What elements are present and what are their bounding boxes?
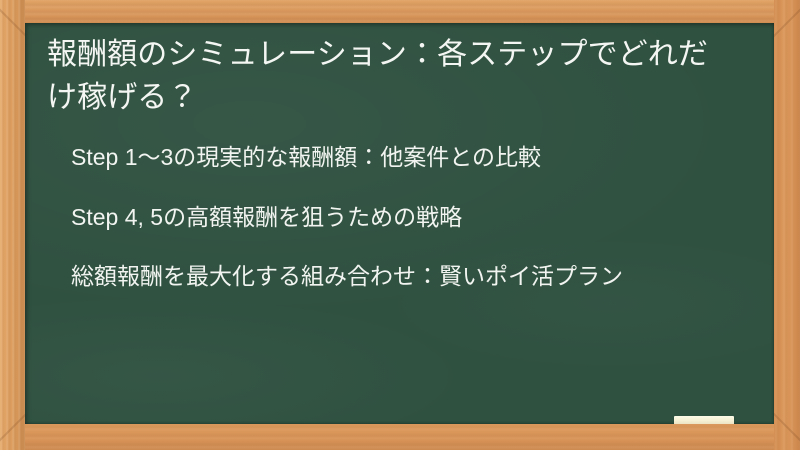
slide-bullet-item-2: Step 4, 5の高額報酬を狙うための戦略 [71, 201, 731, 234]
wood-frame-top-rail [0, 0, 800, 23]
slide-bullet-item-3: 総額報酬を最大化する組み合わせ：賢いポイ活プラン [71, 260, 731, 293]
chalk-stick-icon [674, 416, 734, 424]
slide-bullet-item-1: Step 1〜3の現実的な報酬額：他案件との比較 [71, 141, 731, 174]
wood-frame-right-stile [774, 0, 800, 450]
blackboard-slide: 報酬額のシミュレーション：各ステップでどれだけ稼げる？ Step 1〜3の現実的… [0, 0, 800, 450]
chalkboard-content: 報酬額のシミュレーション：各ステップでどれだけ稼げる？ Step 1〜3の現実的… [25, 23, 774, 424]
slide-title: 報酬額のシミュレーション：各ステップでどれだけ稼げる？ [47, 34, 737, 119]
wood-frame-bottom-rail [0, 424, 800, 450]
slide-bullet-list: Step 1〜3の現実的な報酬額：他案件との比較 Step 4, 5の高額報酬を… [47, 141, 752, 293]
chalkboard-surface: 報酬額のシミュレーション：各ステップでどれだけ稼げる？ Step 1〜3の現実的… [25, 23, 774, 424]
wood-frame-left-stile [0, 0, 25, 450]
